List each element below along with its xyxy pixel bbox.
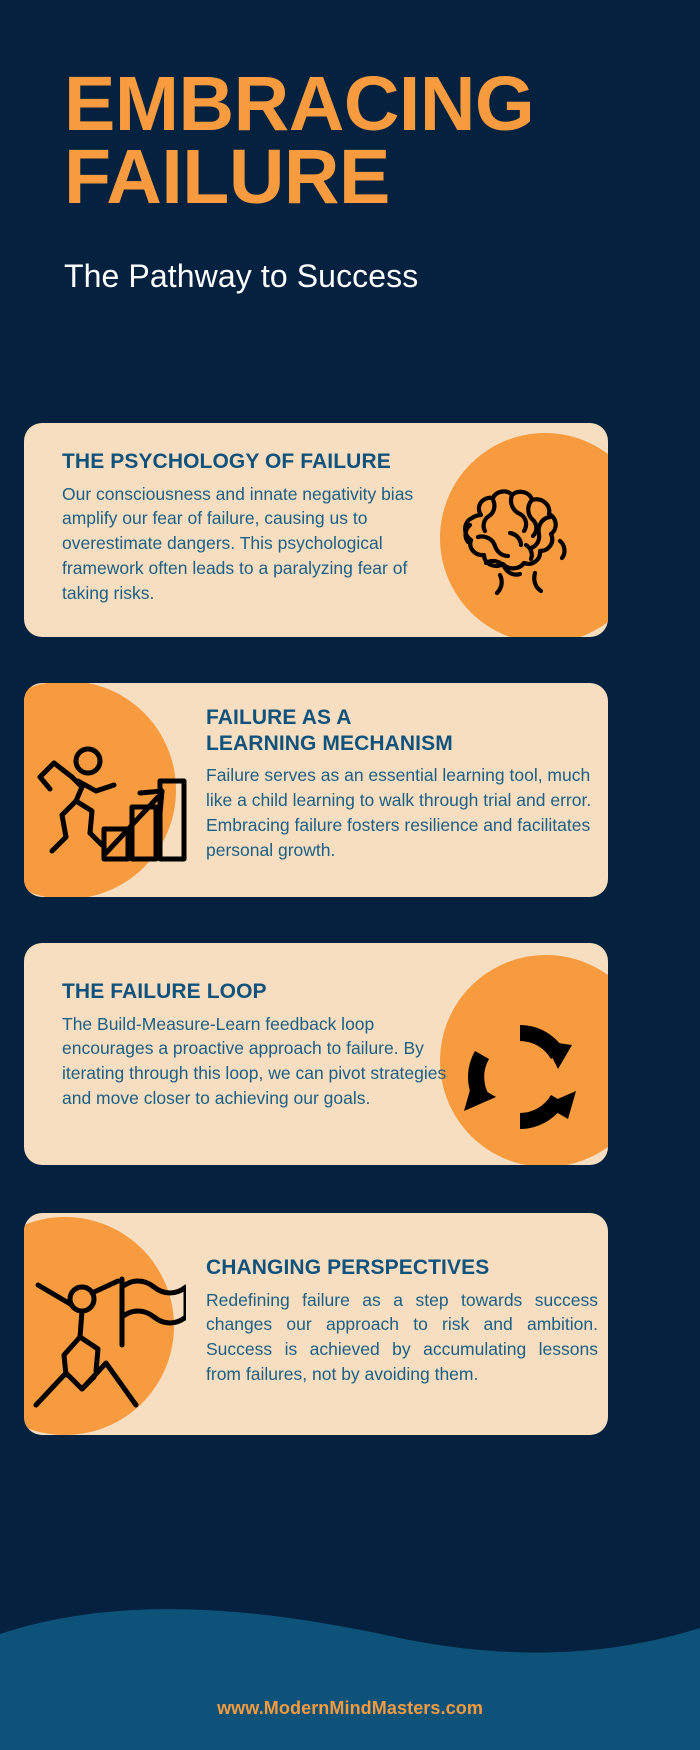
card-body: Failure serves as an essential learning … <box>206 763 598 862</box>
footer-website-url[interactable]: www.ModernMindMasters.com <box>0 1698 700 1719</box>
card-body: The Build-Measure-Learn feedback loop en… <box>62 1012 462 1111</box>
card-body: Our consciousness and innate negativity … <box>62 482 442 606</box>
card-text-block: THE FAILURE LOOP The Build-Measure-Learn… <box>62 979 462 1111</box>
card-title: THE FAILURE LOOP <box>62 979 462 1005</box>
footer-wave-decoration <box>0 1590 700 1750</box>
card-body: Redefining failure as a step towards suc… <box>206 1288 598 1387</box>
card-title-line-1: FAILURE AS A <box>206 706 351 729</box>
card-changing-perspectives: CHANGING PERSPECTIVES Redefining failure… <box>24 1213 608 1435</box>
title-line-2: FAILURE <box>64 141 636 214</box>
card-text-block: THE PSYCHOLOGY OF FAILURE Our consciousn… <box>62 449 442 606</box>
circular-arrows-loop-icon <box>458 1015 582 1139</box>
card-title: CHANGING PERSPECTIVES <box>206 1255 598 1281</box>
mountain-climber-flag-icon <box>26 1271 186 1409</box>
card-text-block: FAILURE AS A LEARNING MECHANISM Failure … <box>206 705 598 863</box>
page-subtitle: The Pathway to Success <box>64 258 636 295</box>
card-title: FAILURE AS A LEARNING MECHANISM <box>206 705 598 756</box>
card-psychology-of-failure: THE PSYCHOLOGY OF FAILURE Our consciousn… <box>24 423 608 637</box>
card-the-failure-loop: THE FAILURE LOOP The Build-Measure-Learn… <box>24 943 608 1165</box>
runner-bar-chart-icon <box>32 741 188 863</box>
page-title: EMBRACING FAILURE <box>64 68 636 214</box>
card-text-block: CHANGING PERSPECTIVES Redefining failure… <box>206 1255 598 1387</box>
card-title-line-2: LEARNING MECHANISM <box>206 732 453 755</box>
card-title: THE PSYCHOLOGY OF FAILURE <box>62 449 442 475</box>
header: EMBRACING FAILURE The Pathway to Success <box>0 0 700 295</box>
card-failure-as-learning-mechanism: FAILURE AS A LEARNING MECHANISM Failure … <box>24 683 608 897</box>
infographic-root: EMBRACING FAILURE The Pathway to Success… <box>0 0 700 1750</box>
brain-icon <box>440 485 590 597</box>
